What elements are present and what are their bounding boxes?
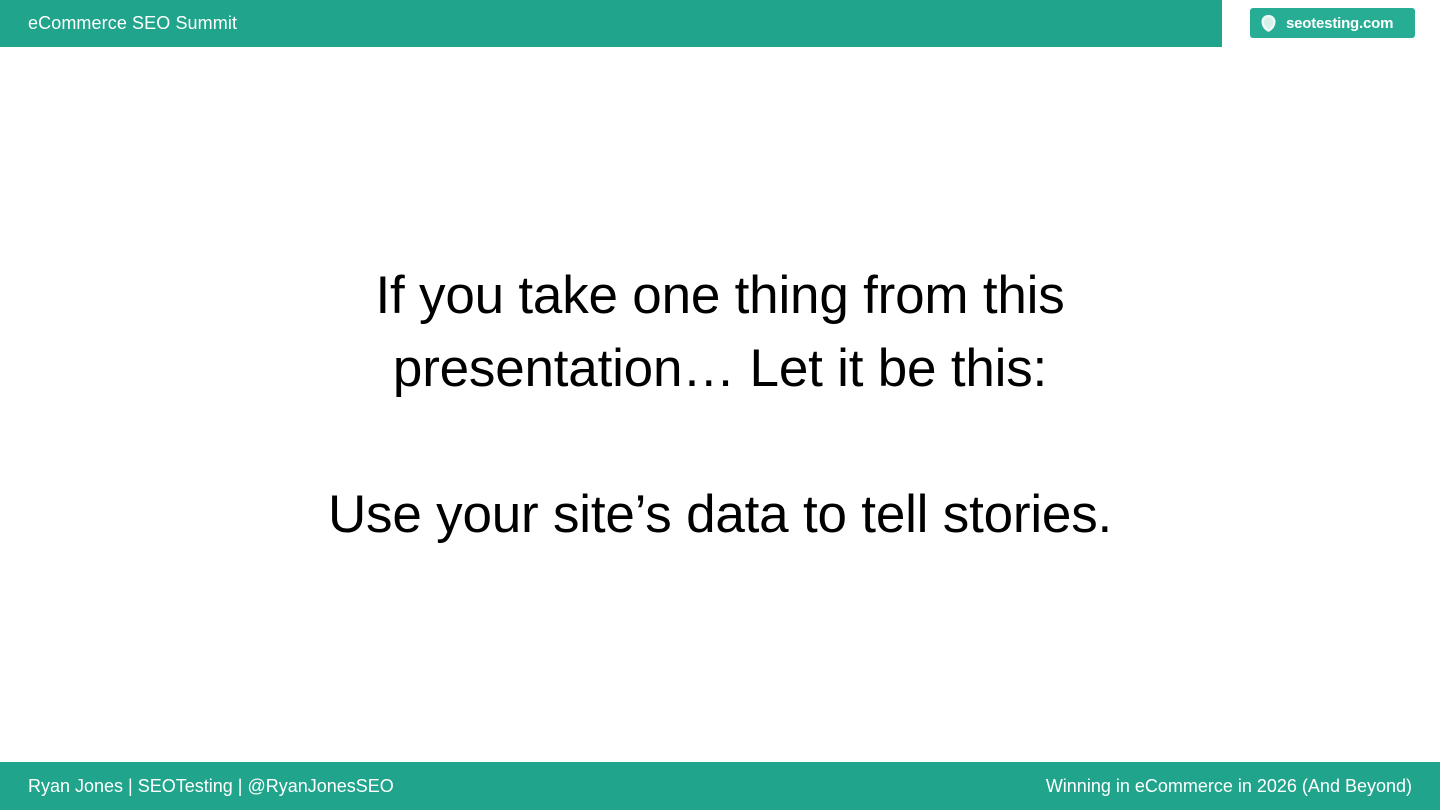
body-line-4: Use your site’s data to tell stories. bbox=[60, 478, 1380, 551]
body-line-1: If you take one thing from this bbox=[60, 259, 1380, 332]
body-line-2: presentation… Let it be this: bbox=[60, 332, 1380, 405]
presentation-slide: eCommerce SEO Summit seotesting.com If y… bbox=[0, 0, 1440, 810]
footer-bar: Ryan Jones | SEOTesting | @RyanJonesSEO … bbox=[0, 762, 1440, 810]
body-line-3-blank bbox=[60, 405, 1380, 478]
footer-presenter-credit: Ryan Jones | SEOTesting | @RyanJonesSEO bbox=[28, 762, 394, 810]
slide-body-text: If you take one thing from this presenta… bbox=[60, 259, 1380, 551]
slide-body: If you take one thing from this presenta… bbox=[60, 47, 1380, 762]
footer-talk-title: Winning in eCommerce in 2026 (And Beyond… bbox=[1046, 762, 1412, 810]
seotesting-logo[interactable]: seotesting.com bbox=[1250, 8, 1415, 38]
shield-icon bbox=[1258, 13, 1279, 34]
logo-wordmark: seotesting.com bbox=[1286, 16, 1393, 31]
header-bar: eCommerce SEO Summit bbox=[0, 0, 1222, 47]
slide-event-title: eCommerce SEO Summit bbox=[28, 0, 237, 47]
